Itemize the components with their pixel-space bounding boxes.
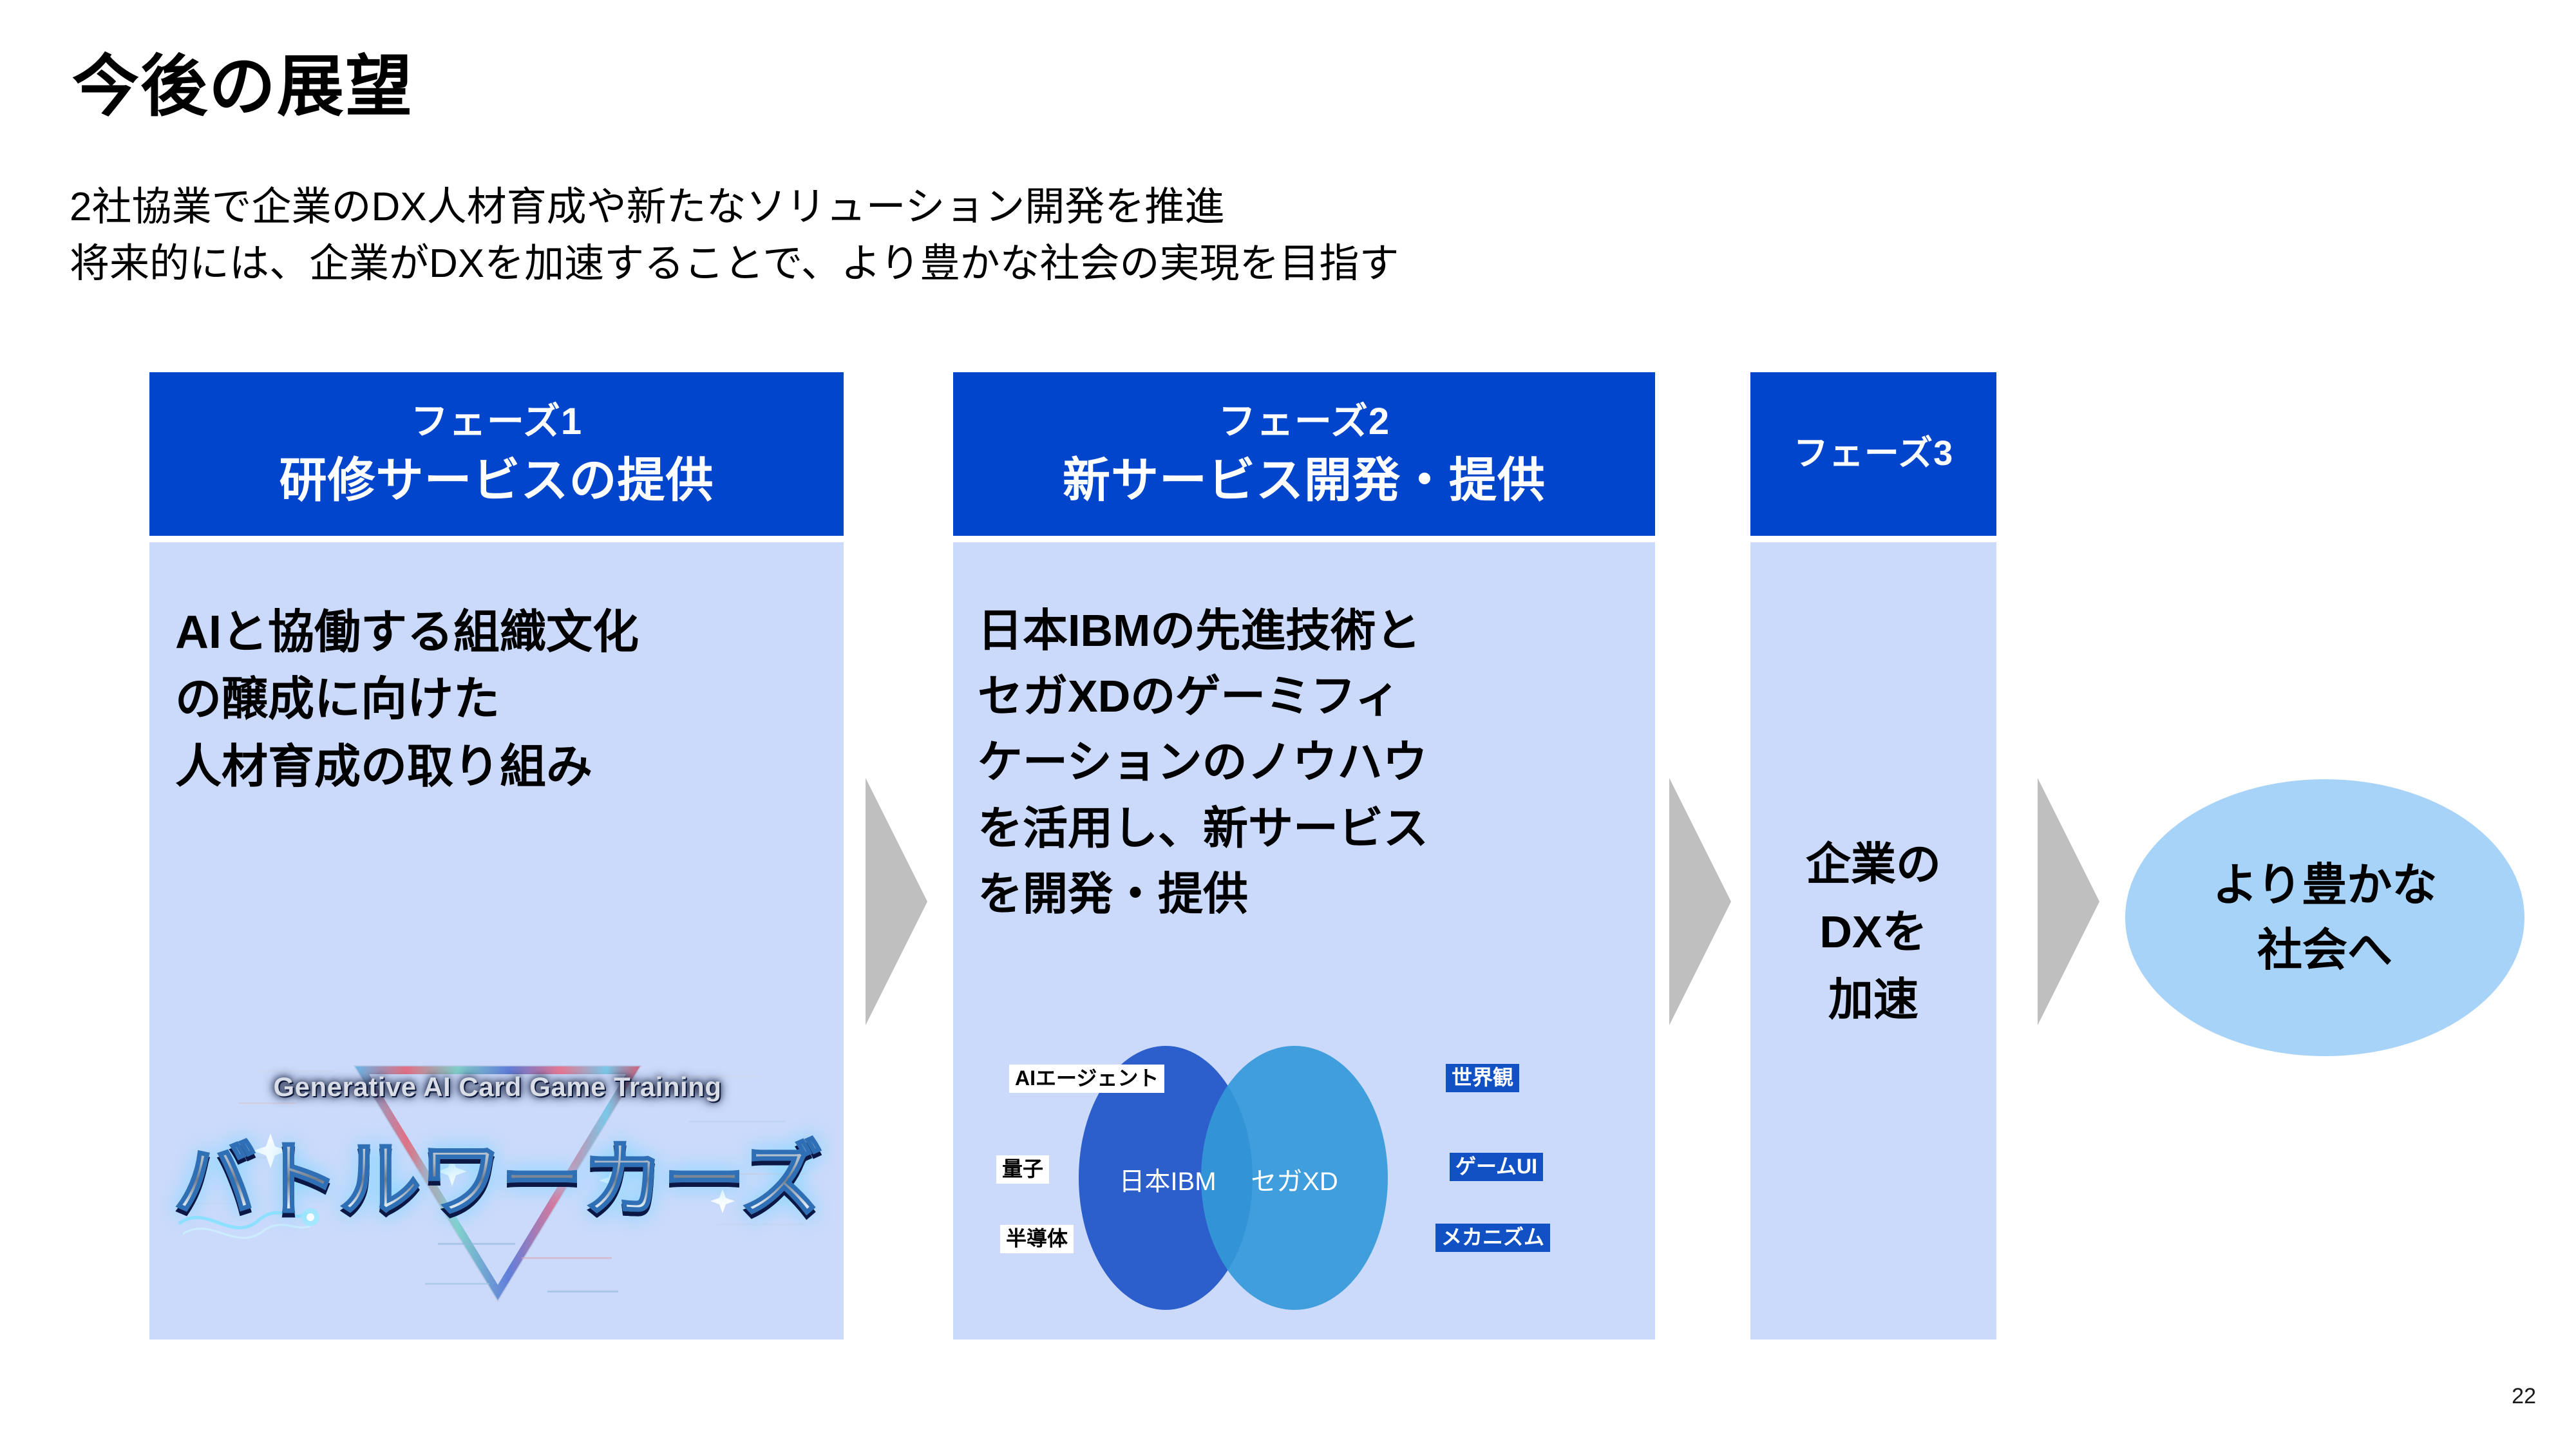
venn-tag-worldview: 世界観	[1446, 1064, 1519, 1092]
phase1-body-text: AIと協働する組織文化 の醸成に向けた 人材育成の取り組み	[175, 599, 832, 800]
phase3-label: フェーズ3	[1794, 433, 1953, 475]
game-logo-title: バトルワーカーズ	[161, 1113, 834, 1232]
venn-diagram: 日本IBM セガXD AIエージェント 量子 半導体 世界観 ゲームUI メカニ…	[995, 1043, 1633, 1314]
phase2-heading: 新サービス開発・提供	[1063, 452, 1546, 508]
venn-tag-ai-agent: AIエージェント	[1009, 1065, 1164, 1093]
subtitle-line-1: 2社協業で企業のDX人材育成や新たなソリューション開発を推進	[70, 179, 1399, 236]
venn-tag-semiconductor: 半導体	[1000, 1225, 1074, 1253]
phase1-header: フェーズ1 研修サービスの提供	[149, 372, 844, 536]
goal-line-1: より豊かな	[2213, 853, 2438, 918]
venn-label-segaxd: セガXD	[1207, 1160, 1381, 1198]
venn-tag-mechanism: メカニズム	[1435, 1224, 1550, 1252]
goal-line-2: 社会へ	[2257, 918, 2392, 983]
arrow-phase1-to-phase2	[857, 773, 934, 1030]
arrow-phase3-to-goal	[2029, 773, 2106, 1030]
phase3-body-text: 企業の DXを 加速	[1750, 831, 1996, 1034]
phase2-body-text: 日本IBMの先進技術と セガXDのゲーミフィ ケーションのノウハウ を活用し、新…	[978, 598, 1641, 927]
subtitle-line-2: 将来的には、企業がDXを加速することで、より豊かな社会の実現を目指す	[70, 236, 1399, 292]
venn-tag-quantum: 量子	[996, 1155, 1049, 1184]
phase1-heading: 研修サービスの提供	[279, 452, 714, 508]
arrow-phase2-to-phase3	[1660, 773, 1738, 1030]
slide-canvas: 今後の展望 2社協業で企業のDX人材育成や新たなソリューション開発を推進 将来的…	[0, 0, 2576, 1449]
phase2-header: フェーズ2 新サービス開発・提供	[953, 372, 1655, 536]
page-title: 今後の展望	[72, 50, 413, 124]
game-logo-tagline: Generative AI Card Game Training	[161, 1072, 834, 1103]
phase1-label: フェーズ1	[411, 400, 582, 444]
venn-tag-game-ui: ゲームUI	[1450, 1153, 1543, 1181]
slide-subtitle: 2社協業で企業のDX人材育成や新たなソリューション開発を推進 将来的には、企業が…	[70, 179, 1399, 292]
goal-ellipse: より豊かな 社会へ	[2125, 779, 2524, 1056]
phase3-header: フェーズ3	[1750, 372, 1996, 536]
phase2-label: フェーズ2	[1218, 400, 1390, 444]
page-number: 22	[2512, 1384, 2536, 1409]
game-logo: Generative AI Card Game Training バトルワーカー…	[161, 1030, 834, 1314]
